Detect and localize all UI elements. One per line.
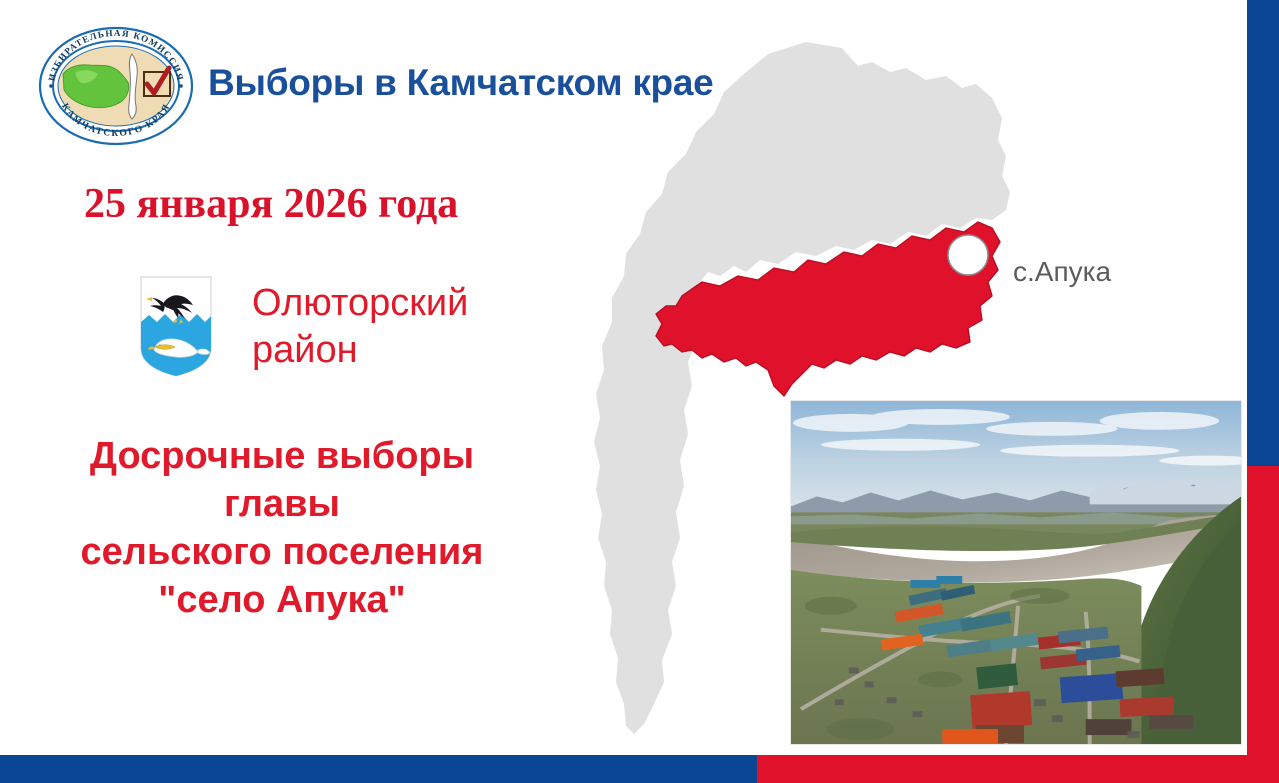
decor-stripe-right-blue: [1247, 0, 1279, 466]
election-commission-emblem-icon: ИЗБИРАТЕЛЬНАЯ КОМИССИЯ КАМЧАТСКОГО КРАЯ: [36, 24, 196, 148]
election-headline: Досрочные выборы главы сельского поселен…: [22, 432, 542, 624]
village-aerial-photo: [790, 400, 1242, 745]
location-dot-marker-icon: [948, 235, 988, 275]
decor-stripe-right-red: [1247, 466, 1279, 783]
election-date: 25 января 2026 года: [84, 180, 458, 228]
olyutorsky-coat-of-arms-icon: [140, 276, 212, 377]
election-poster: ИЗБИРАТЕЛЬНАЯ КОМИССИЯ КАМЧАТСКОГО КРАЯ …: [0, 0, 1279, 783]
decor-stripe-bottom-blue: [0, 755, 757, 783]
district-name: Олюторский район: [252, 276, 468, 374]
map-marker-label: с.Апука: [1013, 256, 1111, 288]
district-block: Олюторский район: [140, 276, 468, 377]
decor-stripe-bottom-red: [757, 755, 1279, 783]
